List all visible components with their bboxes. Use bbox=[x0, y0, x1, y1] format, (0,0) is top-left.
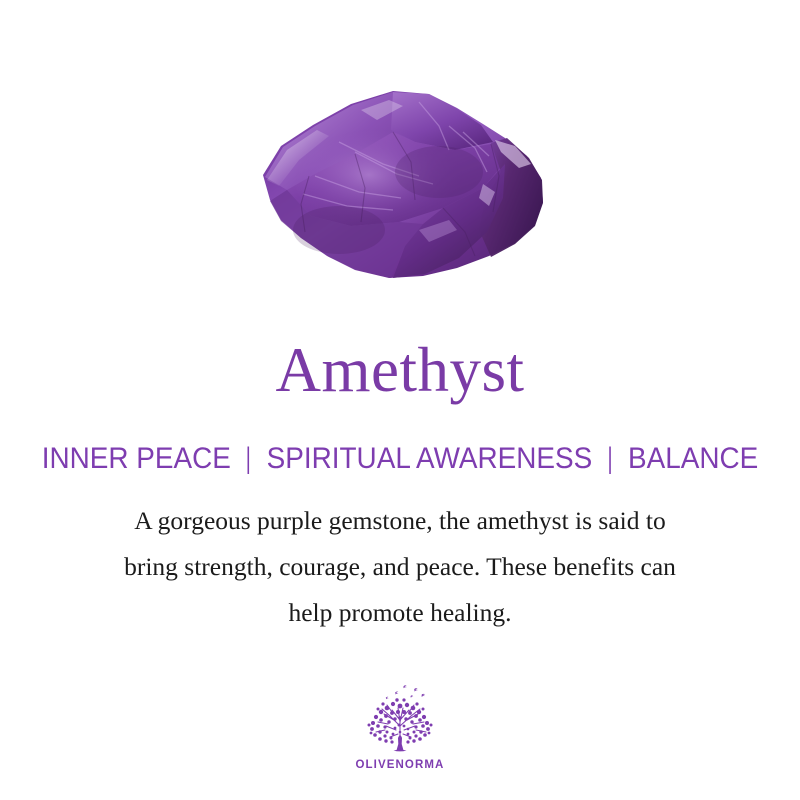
keyword-spiritual-awareness: SPIRITUAL AWARENESS bbox=[267, 440, 593, 478]
description-line-2: bring strength, courage, and peace. Thes… bbox=[60, 544, 740, 590]
tree-base bbox=[394, 750, 407, 752]
description-line-1: A gorgeous purple gemstone, the amethyst… bbox=[60, 498, 740, 544]
keyword-balance: BALANCE bbox=[628, 440, 758, 478]
description-line-3: help promote healing. bbox=[60, 590, 740, 636]
keyword-row: INNER PEACE | SPIRITUAL AWARENESS | BALA… bbox=[28, 440, 772, 478]
brand-name-text: OLIVENORMA bbox=[0, 759, 800, 771]
page-title: Amethyst bbox=[0, 336, 800, 404]
hero-image-area bbox=[0, 60, 800, 310]
tree-with-birds-icon bbox=[354, 682, 446, 756]
amethyst-stone-image bbox=[243, 80, 561, 295]
keyword-inner-peace: INNER PEACE bbox=[42, 440, 231, 478]
amethyst-crystal-illustration bbox=[243, 80, 561, 295]
tree-trunk bbox=[397, 735, 404, 750]
keyword-separator-1: | bbox=[242, 440, 256, 478]
description-text: A gorgeous purple gemstone, the amethyst… bbox=[60, 498, 740, 636]
stone-interior-shadow bbox=[395, 146, 483, 198]
tree-birds-flock bbox=[386, 685, 425, 699]
product-info-card: Amethyst INNER PEACE | SPIRITUAL AWARENE… bbox=[0, 0, 800, 800]
stone-base-shadow bbox=[293, 206, 385, 254]
brand-logo: OLIVENORMA bbox=[0, 682, 800, 771]
keyword-separator-2: | bbox=[603, 440, 617, 478]
